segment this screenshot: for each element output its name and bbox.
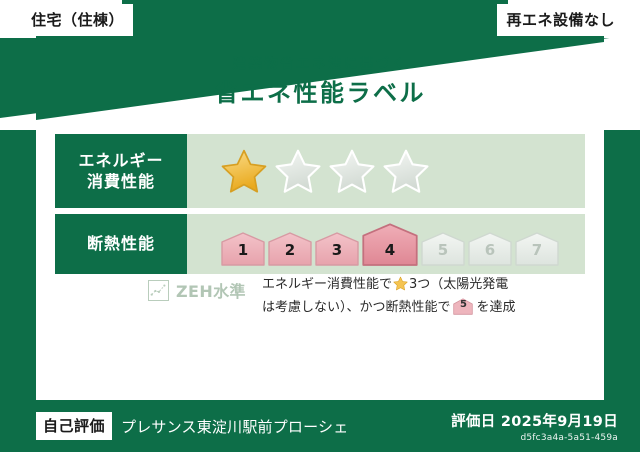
insulation-level-badge: 6 — [468, 232, 512, 266]
label-footer: 自己評価 プレサンス東淀川駅前プローシェ 評価日 2025年9月19日 d5fc… — [0, 400, 640, 452]
achievement-description: エネルギー消費性能で3つ（太陽光発電は考慮しない）、かつ断熱性能で5を達成 — [258, 272, 585, 320]
insulation-level-badge: 4 — [362, 222, 418, 266]
label-title-block: 建築物省エネ法に基づく 省エネ性能ラベル — [36, 56, 604, 110]
star-icon-empty — [275, 148, 321, 194]
insulation-level-number: 3 — [315, 241, 359, 259]
desc-part-2: 3つ（太陽光発電 — [409, 277, 508, 292]
energy-label-line1: エネルギー — [78, 150, 163, 171]
thermal-performance-label-cell: 断熱性能 — [55, 214, 187, 274]
footer-right-group: 評価日 2025年9月19日 d5fc3a4a-5a51-459a — [451, 410, 618, 443]
insulation-level-badge: 5 — [421, 232, 465, 266]
desc-part-3: は考慮しない）、かつ断熱性能で — [262, 300, 451, 315]
building-name: プレサンス東淀川駅前プローシェ — [121, 416, 348, 437]
thermal-performance-row: 断熱性能 1234567 — [55, 214, 585, 274]
insulation-level-badge: 7 — [515, 232, 559, 266]
zeh-standard-label: ZEH水準 — [176, 278, 246, 302]
insulation-level-number: 4 — [362, 241, 418, 259]
renewable-equipment-tag: 再エネ設備なし — [497, 4, 624, 36]
evaluation-date: 評価日 2025年9月19日 — [451, 410, 618, 431]
thermal-performance-value-cell: 1234567 — [187, 214, 585, 274]
page-title: 省エネ性能ラベル — [36, 77, 604, 109]
energy-performance-value-cell — [187, 134, 585, 208]
footer-left-group: 自己評価 プレサンス東淀川駅前プローシェ — [36, 412, 451, 440]
insulation-level-number: 7 — [515, 241, 559, 259]
zeh-note-section: ZEH水準 エネルギー消費性能で3つ（太陽光発電は考慮しない）、かつ断熱性能で5… — [55, 272, 585, 320]
insulation-level-badge: 2 — [268, 232, 312, 266]
rating-rows: エネルギー 消費性能 断熱性能 1234567 — [55, 134, 585, 280]
energy-label-line2: 消費性能 — [87, 171, 155, 192]
inline-insulation-badge: 5 — [453, 298, 473, 315]
star-icon-empty — [383, 148, 429, 194]
thermal-label-line1: 断熱性能 — [87, 233, 155, 254]
inline-badge-number: 5 — [453, 296, 473, 314]
star-icon-filled — [221, 148, 267, 194]
scatter-chart-icon — [148, 280, 169, 301]
self-evaluation-badge: 自己評価 — [36, 412, 112, 440]
insulation-level-number: 2 — [268, 241, 312, 259]
zeh-standard-mark: ZEH水準 — [55, 272, 246, 302]
label-title-sub: 建築物省エネ法に基づく — [36, 56, 604, 72]
inline-star-icon — [393, 276, 408, 291]
insulation-level-badge: 3 — [315, 232, 359, 266]
star-icon-empty — [329, 148, 375, 194]
energy-performance-label: 住宅（住棟） 再エネ設備なし 建築物省エネ法に基づく 省エネ性能ラベル エネルギ… — [0, 0, 640, 452]
star-rating — [221, 148, 429, 194]
insulation-level-badge: 1 — [221, 232, 265, 266]
insulation-level-scale: 1234567 — [221, 222, 559, 266]
label-card: 建築物省エネ法に基づく 省エネ性能ラベル エネルギー 消費性能 断熱性能 — [36, 34, 604, 400]
building-type-tag: 住宅（住棟） — [22, 4, 133, 36]
evaluation-id: d5fc3a4a-5a51-459a — [451, 433, 618, 443]
energy-performance-row: エネルギー 消費性能 — [55, 134, 585, 208]
insulation-level-number: 1 — [221, 241, 265, 259]
desc-part-1: エネルギー消費性能で — [262, 277, 392, 292]
insulation-level-number: 6 — [468, 241, 512, 259]
desc-part-4: を達成 — [476, 300, 515, 315]
energy-performance-label-cell: エネルギー 消費性能 — [55, 134, 187, 208]
insulation-level-number: 5 — [421, 241, 465, 259]
